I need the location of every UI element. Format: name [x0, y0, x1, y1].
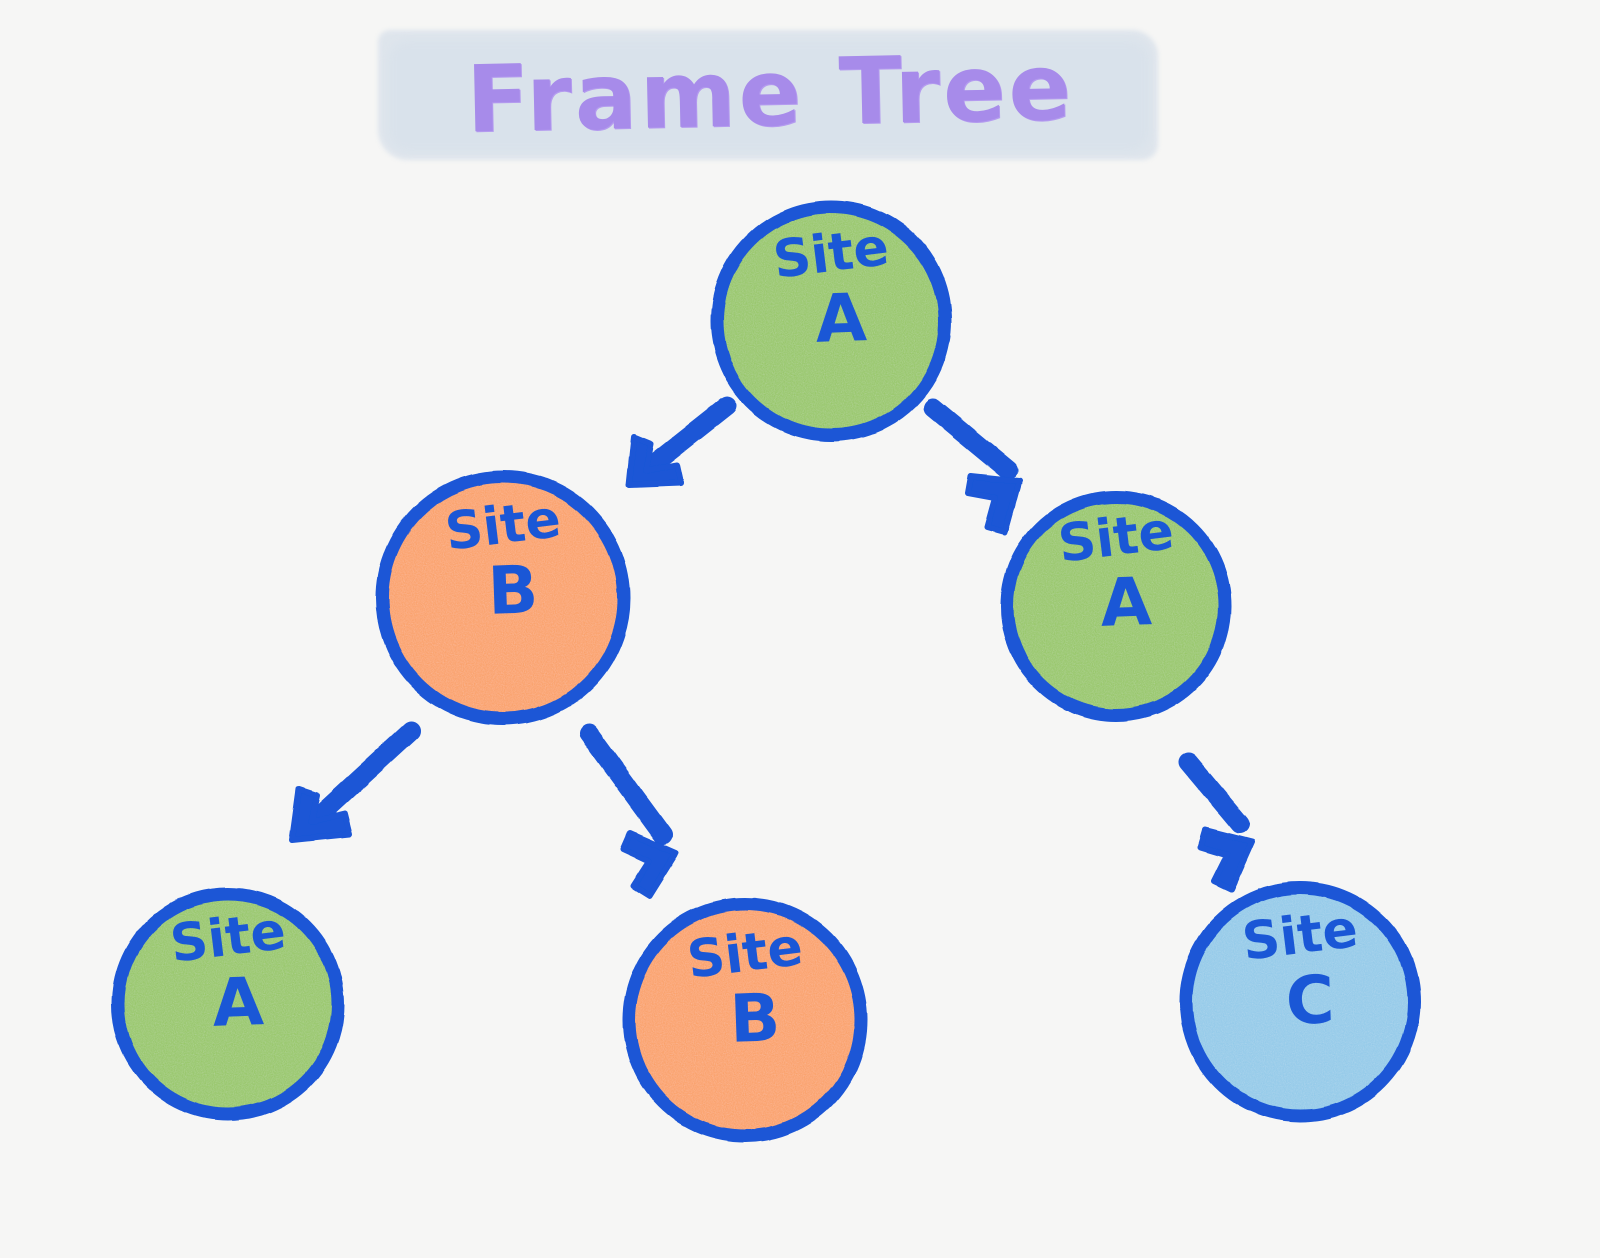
node-hit-site-c-bottom-right[interactable] [1186, 888, 1414, 1116]
edge-root-to-site-a-right [933, 408, 1019, 532]
node-hit-site-b[interactable] [382, 477, 624, 719]
node-hit-root-site-a[interactable] [717, 207, 945, 435]
node-hit-site-a-right[interactable] [1007, 497, 1225, 715]
edge-site-a-right-to-site-c [1188, 762, 1252, 889]
edge-root-to-site-b [629, 406, 727, 485]
page-title: Frame Tree [370, 22, 1170, 170]
page-title-text: Frame Tree [369, 32, 1171, 156]
edge-site-b-to-site-b-bottom [589, 734, 676, 896]
diagram-canvas: Frame Tree Site A Site B Site A Site A S… [0, 0, 1600, 1258]
edge-site-b-to-site-a-bottom [292, 731, 411, 840]
node-hit-site-a-bottom-left[interactable] [118, 894, 338, 1114]
node-hit-site-b-bottom-middle[interactable] [629, 904, 861, 1136]
